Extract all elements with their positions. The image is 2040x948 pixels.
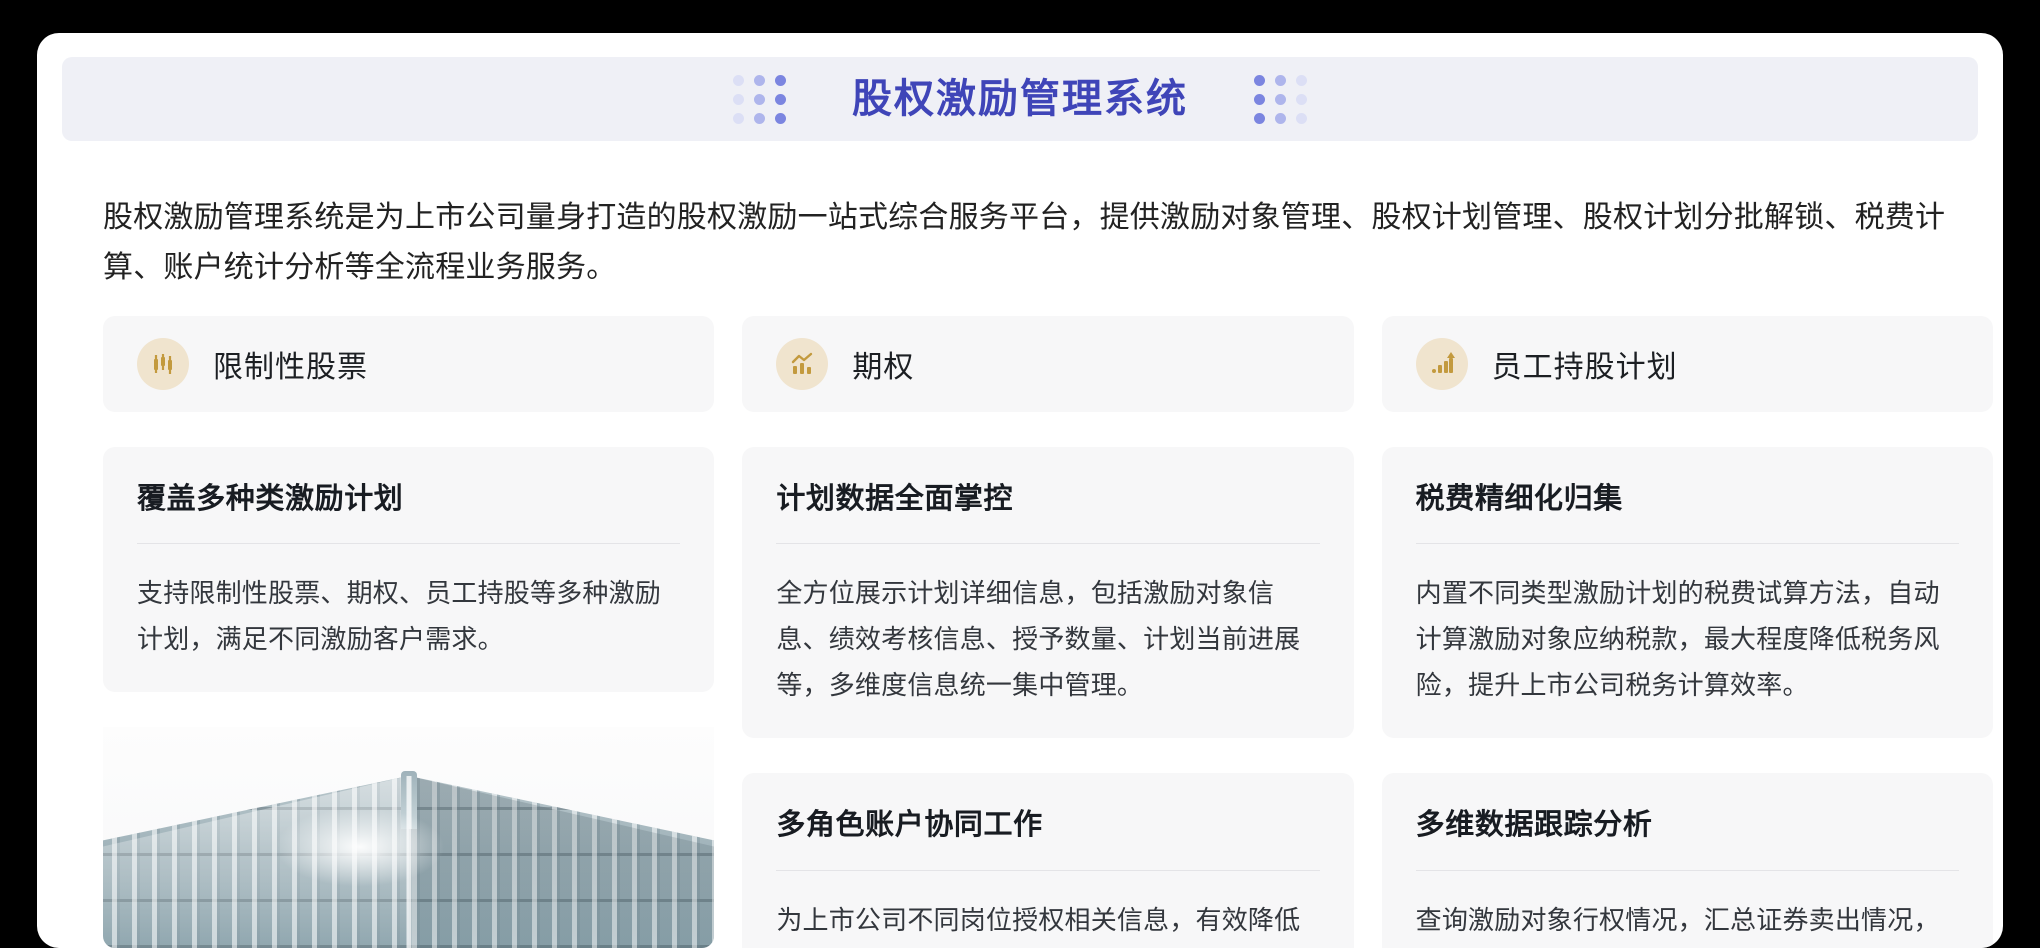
bar-chart-trend-icon <box>776 338 828 390</box>
feature-body: 支持限制性股票、期权、员工持股等多种激励计划，满足不同激励客户需求。 <box>137 570 680 662</box>
divider <box>137 543 680 544</box>
divider <box>1416 543 1959 544</box>
feature-card[interactable]: 覆盖多种类激励计划 支持限制性股票、期权、员工持股等多种激励计划，满足不同激励客… <box>103 447 714 692</box>
feature-columns: 限制性股票 覆盖多种类激励计划 支持限制性股票、期权、员工持股等多种激励计划，满… <box>103 316 1993 948</box>
column-1: 限制性股票 覆盖多种类激励计划 支持限制性股票、期权、员工持股等多种激励计划，满… <box>103 316 714 948</box>
feature-body: 全方位展示计划详细信息，包括激励对象信息、绩效考核信息、授予数量、计划当前进展等… <box>776 570 1319 708</box>
divider <box>1416 870 1959 871</box>
glass-office-building-photo <box>103 727 714 948</box>
bar-chart-arrow-icon <box>1416 338 1468 390</box>
page-title: 股权激励管理系统 <box>852 79 1188 119</box>
page-header: 股权激励管理系统 <box>62 57 1978 141</box>
badge-option[interactable]: 期权 <box>742 316 1353 412</box>
feature-card[interactable]: 计划数据全面掌控 全方位展示计划详细信息，包括激励对象信息、绩效考核信息、授予数… <box>742 447 1353 738</box>
feature-body: 查询激励对象行权情况，汇总证券卖出情况，激励计划收益分析。 <box>1416 897 1959 948</box>
column-3: 员工持股计划 税费精细化归集 内置不同类型激励计划的税费试算方法，自动计算激励对… <box>1382 316 1993 948</box>
badge-label: 限制性股票 <box>213 342 368 386</box>
candlestick-chart-icon <box>137 338 189 390</box>
divider <box>776 870 1319 871</box>
feature-title: 计划数据全面掌控 <box>776 481 1319 517</box>
divider <box>776 543 1319 544</box>
badge-employee-stock-plan[interactable]: 员工持股计划 <box>1382 316 1993 412</box>
feature-title: 覆盖多种类激励计划 <box>137 481 680 517</box>
feature-body: 内置不同类型激励计划的税费试算方法，自动计算激励对象应纳税款，最大程度降低税务风… <box>1416 570 1959 708</box>
feature-card[interactable]: 多维数据跟踪分析 查询激励对象行权情况，汇总证券卖出情况，激励计划收益分析。 <box>1382 773 1993 948</box>
feature-title: 多维数据跟踪分析 <box>1416 807 1959 843</box>
dot-grid-icon-right <box>1254 75 1307 124</box>
feature-title: 税费精细化归集 <box>1416 481 1959 517</box>
badge-restricted-stock[interactable]: 限制性股票 <box>103 316 714 412</box>
intro-paragraph: 股权激励管理系统是为上市公司量身打造的股权激励一站式综合服务平台，提供激励对象管… <box>103 193 1993 293</box>
feature-card[interactable]: 多角色账户协同工作 为上市公司不同岗位授权相关信息，有效降低人力成本及沟通成本，… <box>742 773 1353 948</box>
feature-card[interactable]: 税费精细化归集 内置不同类型激励计划的税费试算方法，自动计算激励对象应纳税款，最… <box>1382 447 1993 738</box>
badge-label: 期权 <box>852 342 914 386</box>
badge-label: 员工持股计划 <box>1492 342 1678 386</box>
feature-title: 多角色账户协同工作 <box>776 807 1319 843</box>
dot-grid-icon-left <box>733 75 786 124</box>
column-2: 期权 计划数据全面掌控 全方位展示计划详细信息，包括激励对象信息、绩效考核信息、… <box>742 316 1353 948</box>
app-window: 股权激励管理系统 股权激励管理系统是为上市公司量身打造的股权激励一站式综合服务平… <box>37 33 2003 948</box>
feature-body: 为上市公司不同岗位授权相关信息，有效降低人力成本及沟通成本，极大提高协同管理效率… <box>776 897 1319 948</box>
